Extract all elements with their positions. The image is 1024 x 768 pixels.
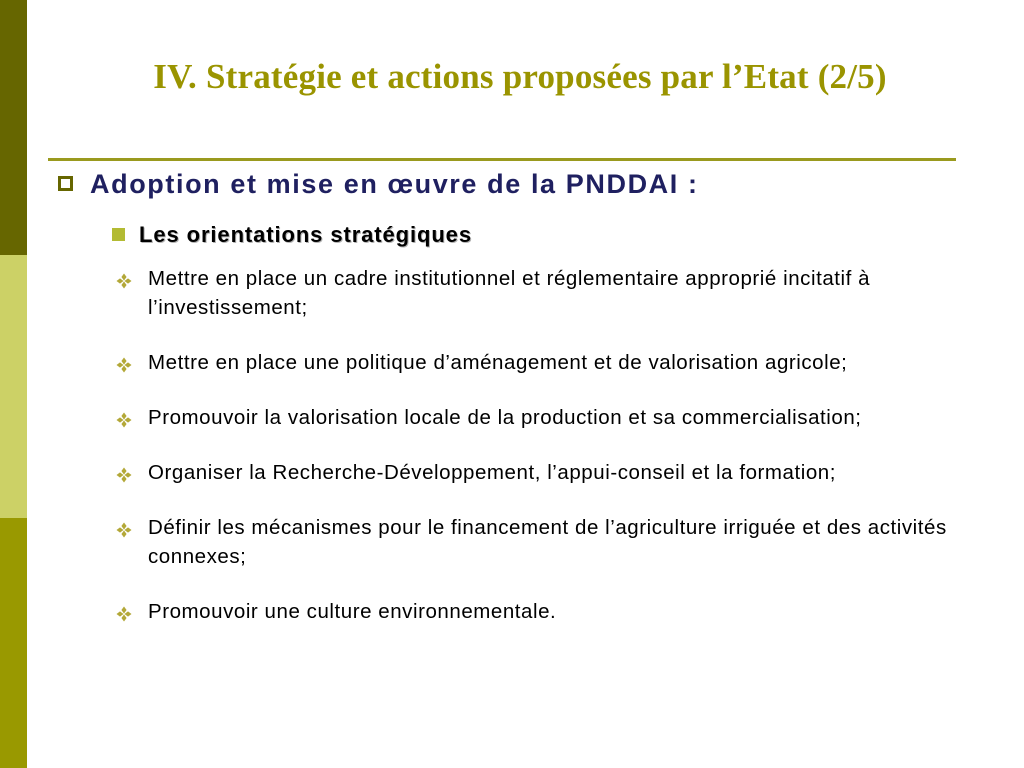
title-divider-rule (48, 158, 956, 161)
diamond-cluster-bullet-icon (116, 606, 132, 622)
bullet-level3-item: Mettre en place une politique d’aménagem… (0, 348, 1024, 377)
diamond-cluster-bullet-icon (116, 357, 132, 373)
bullet-level3-label: Promouvoir une culture environnementale. (148, 597, 556, 626)
bullet-level3-item: Définir les mécanismes pour le financeme… (0, 513, 1024, 571)
bullet-level3-list: Mettre en place un cadre institutionnel … (0, 264, 1024, 626)
bullet-level3-label: Promouvoir la valorisation locale de la … (148, 403, 862, 432)
bullet-level2: Les orientations stratégiques (0, 220, 1024, 250)
diamond-cluster-bullet-icon (116, 412, 132, 428)
filled-square-bullet-icon (112, 228, 125, 241)
bullet-level3-label: Mettre en place un cadre institutionnel … (148, 264, 948, 322)
bullet-level3-item: Promouvoir la valorisation locale de la … (0, 403, 1024, 432)
bullet-level3-item: Promouvoir une culture environnementale. (0, 597, 1024, 626)
bullet-level3-item: Organiser la Recherche-Développement, l’… (0, 458, 1024, 487)
diamond-cluster-bullet-icon (116, 467, 132, 483)
hollow-square-bullet-icon (58, 176, 73, 191)
bullet-level1: Adoption et mise en œuvre de la PNDDAI : (0, 166, 1024, 202)
slide-title: IV. Stratégie et actions proposées par l… (40, 56, 1000, 98)
bullet-level2-label: Les orientations stratégiques (139, 220, 472, 250)
bullet-level3-item: Mettre en place un cadre institutionnel … (0, 264, 1024, 322)
bullet-level3-label: Définir les mécanismes pour le financeme… (148, 513, 948, 571)
bullet-level3-label: Mettre en place une politique d’aménagem… (148, 348, 847, 377)
slide-content: Adoption et mise en œuvre de la PNDDAI :… (0, 166, 1024, 642)
bullet-level1-label: Adoption et mise en œuvre de la PNDDAI : (90, 166, 699, 202)
bullet-level3-label: Organiser la Recherche-Développement, l’… (148, 458, 836, 487)
diamond-cluster-bullet-icon (116, 522, 132, 538)
diamond-cluster-bullet-icon (116, 273, 132, 289)
